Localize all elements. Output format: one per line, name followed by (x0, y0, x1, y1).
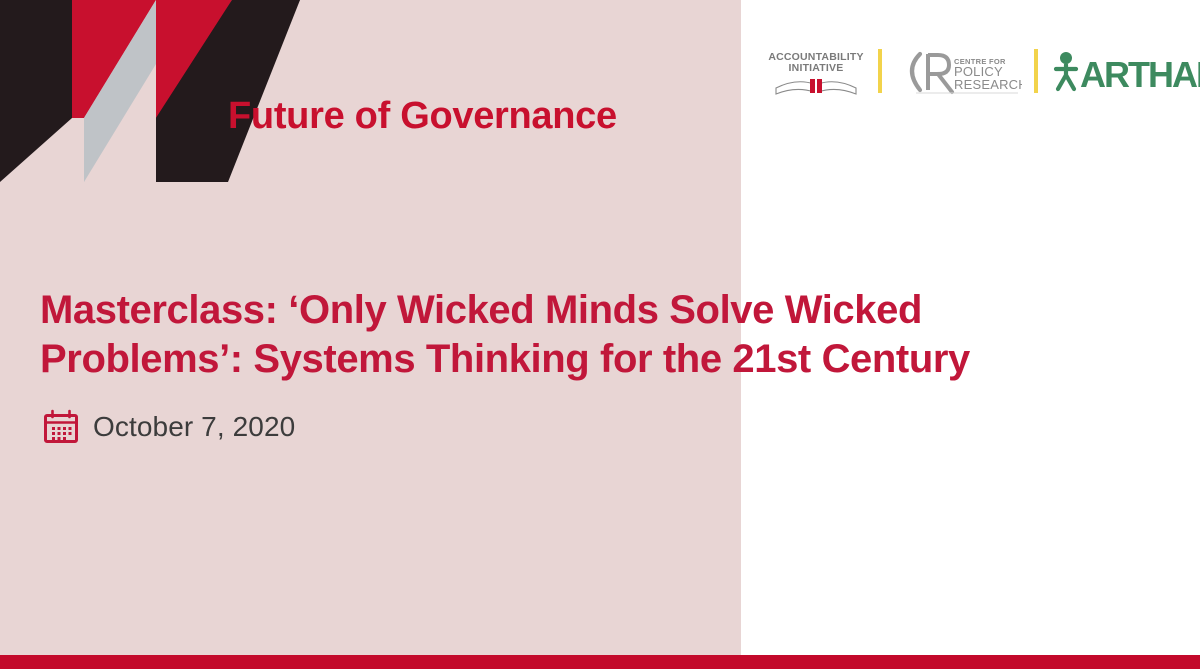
series-title: Future of Governance (228, 95, 617, 138)
logo-arthan: ARTHAN (1050, 44, 1200, 98)
arthan-person-icon (1056, 52, 1076, 89)
logo-ai-line2: INITIATIVE (789, 62, 844, 74)
logo-separator-2 (1034, 49, 1038, 93)
logo-centre-for-policy-research: CENTRE FOR POLICY RESEARCH (894, 44, 1022, 98)
logo-arthan-wordmark: ARTHAN (1080, 54, 1200, 93)
partner-logo-strip: ACCOUNTABILITY INITIATIVE (766, 44, 1176, 98)
bottom-accent-bar (0, 655, 1200, 669)
logo-cpr-line3: RESEARCH (954, 77, 1022, 92)
logo-accountability-initiative: ACCOUNTABILITY INITIATIVE (766, 44, 866, 98)
open-book-icon (776, 79, 856, 94)
calendar-icon (42, 408, 80, 446)
presentation-slide: ACCOUNTABILITY INITIATIVE (0, 0, 1200, 669)
page-title: Masterclass: ‘Only Wicked Minds Solve Wi… (40, 286, 1100, 384)
event-date-row: October 7, 2020 (42, 408, 295, 446)
logo-separator-1 (878, 49, 882, 93)
cpr-monogram-icon (912, 54, 952, 92)
event-date: October 7, 2020 (93, 411, 295, 443)
